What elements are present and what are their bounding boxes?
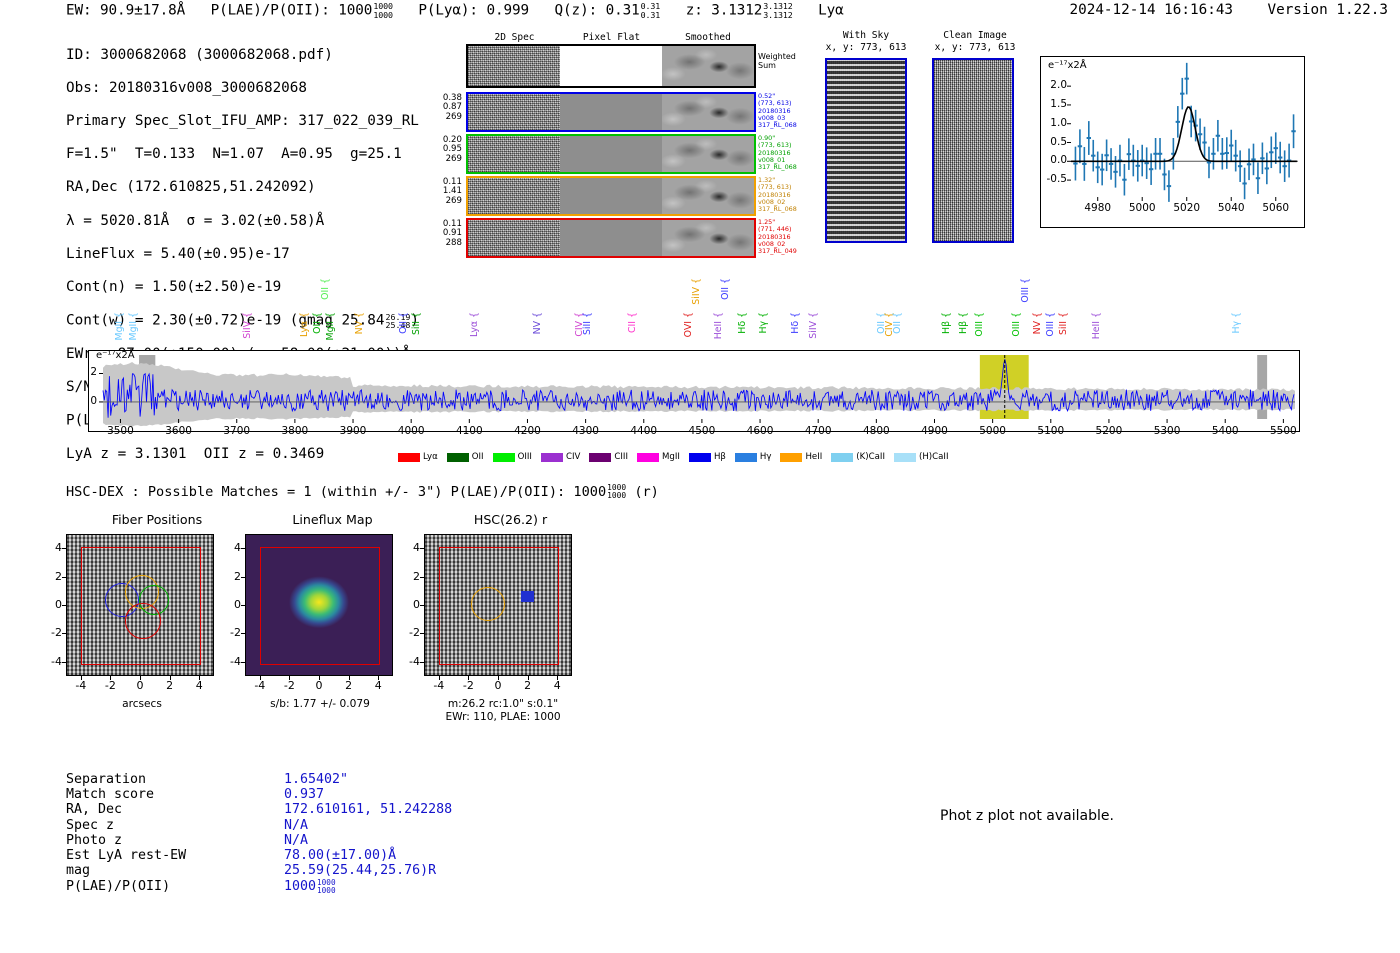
cutout-ytickmark: [241, 605, 245, 606]
report-stamp: 2024-12-14 16:16:43 Version 1.22.3: [1070, 2, 1389, 18]
cutout-ytickmark: [420, 633, 424, 634]
cutout-ytickmark: [62, 633, 66, 634]
fiber-positions-image: [66, 534, 214, 676]
emission-line-label: SiIV {: [242, 312, 253, 339]
zoom-ytick: 2.0: [1029, 79, 1067, 91]
table-row: Separation1.65402": [66, 772, 452, 787]
fiber-left-values-4: 0.110.91288: [432, 220, 462, 248]
cutout-ytickmark: [241, 662, 245, 663]
fiber-circle-red: [125, 603, 161, 639]
z-value: 3.1312: [711, 2, 762, 18]
cutout-ytick: -4: [396, 655, 420, 668]
cutout-ytick: 0: [38, 598, 62, 611]
legend-item: Hγ: [735, 452, 772, 462]
param-line: LineFlux = 5.40(±0.95)e-17: [66, 246, 419, 263]
cutout-xtickmark: [528, 676, 529, 680]
zoom-spectrum-units: e⁻¹⁷x2Å: [1048, 60, 1087, 71]
cutout-ytickmark: [62, 577, 66, 578]
cutout-ytickmark: [420, 577, 424, 578]
param-line: Primary Spec_Slot_IFU_AMP: 317_022_039_R…: [66, 113, 419, 130]
cutout-xtickmark: [349, 676, 350, 680]
legend-item: Lyα: [398, 452, 438, 462]
legend-label: (K)CaII: [856, 452, 885, 462]
cutout-xtickmark: [81, 676, 82, 680]
zoom-ytick: -0.5: [1029, 173, 1067, 185]
line-name: Lyα: [818, 2, 844, 18]
full-xtick: 3600: [153, 425, 205, 437]
emission-line-label: Hδ {: [790, 312, 801, 334]
legend-swatch: [894, 453, 916, 462]
cutout-ytick: 2: [217, 570, 241, 583]
cutout-xtick: 4: [358, 679, 398, 692]
weighted-sum-label: Weighted Sum: [758, 52, 818, 70]
emission-line-label: SiIV {: [808, 312, 819, 339]
hscdex-header: HSC-DEX : Possible Matches = 1 (within +…: [66, 484, 659, 500]
plae-value: 1000: [338, 2, 372, 18]
cutout-ytickmark: [62, 662, 66, 663]
emission-line-label: SiII {: [411, 312, 422, 335]
fiber-right-values-2: 0.90"(773, 613)20180316v008_01317_RL_068: [758, 135, 818, 171]
with-sky-caption: With Sky x, y: 773, 613: [820, 30, 912, 53]
full-xtick: 5500: [1257, 425, 1309, 437]
cutout-xtickmark: [557, 676, 558, 680]
param-line: λ = 5020.81Å σ = 3.02(±0.58)Å: [66, 213, 419, 230]
full-spectrum-units: e⁻¹⁷x2Å: [96, 350, 135, 361]
cutout-xtickmark: [110, 676, 111, 680]
full-xtick: 5100: [1025, 425, 1077, 437]
emission-line-label: OII {: [892, 312, 903, 334]
legend-swatch: [589, 453, 611, 462]
emission-line-label: OII {: [312, 312, 323, 334]
cutout-ytick: 4: [38, 541, 62, 554]
zoom-xtick: 5000: [1120, 202, 1164, 214]
emission-line-label: OVI {: [683, 312, 694, 337]
emission-line-label: NV {: [1032, 312, 1043, 334]
emission-line-label: Hβ {: [958, 312, 969, 334]
cutout-xtickmark: [260, 676, 261, 680]
cutout-caption-hsc-r: m:26.2 rc:1.0" s:0.1" EWr: 110, PLAE: 10…: [418, 698, 588, 723]
match-properties-table: Separation1.65402" Match score0.937 RA, …: [66, 772, 452, 894]
full-xtick: 3700: [211, 425, 263, 437]
legend-label: CIII: [614, 452, 628, 462]
legend-label: Lyα: [423, 452, 438, 462]
zoom-ytick: 0.0: [1029, 154, 1067, 166]
legend-swatch: [780, 453, 802, 462]
emission-line-label: SiII {: [582, 312, 593, 335]
legend-label: MgII: [662, 452, 680, 462]
cutout-xtickmark: [170, 676, 171, 680]
zoom-ytick: 1.5: [1029, 98, 1067, 110]
fiber-left-values-1: 0.380.87269: [432, 94, 462, 122]
emission-line-label: NV {: [354, 312, 365, 334]
cutout-title-lineflux-map: Lineflux Map: [240, 512, 425, 527]
fiber-right-values-4: 1.25"(771, 446)20180316v008_02317_RL_049: [758, 219, 818, 255]
full-xtick: 4100: [443, 425, 495, 437]
cutout-ytickmark: [420, 548, 424, 549]
emission-line-label: Hγ {: [758, 312, 769, 334]
cutout-ytick: 0: [217, 598, 241, 611]
legend-item: Hβ: [689, 452, 726, 462]
plae-label: P(LAE)/P(OII):: [211, 2, 330, 18]
cutout-xtick: 4: [537, 679, 577, 692]
param-line: Cont(n) = 1.50(±2.50)e-19: [66, 279, 419, 296]
emission-line-label: Lyα {: [299, 312, 310, 337]
table-row: Spec zN/A: [66, 818, 452, 833]
cutout-xtickmark: [498, 676, 499, 680]
zoom-xtick: 5040: [1209, 202, 1253, 214]
panel-title-pixelflat: Pixel Flat: [563, 32, 660, 43]
table-row-plae: P(LAE)/P(OII)100010001000: [66, 878, 452, 894]
cutout-ytickmark: [62, 548, 66, 549]
cutout-ytick: -4: [38, 655, 62, 668]
hsc-match-marker: [521, 591, 534, 602]
summary-header: EW: 90.9±17.8Å P(LAE)/P(OII): 1000100010…: [66, 2, 844, 19]
emission-line-label: OIII {: [1020, 278, 1031, 303]
legend-label: OIII: [518, 452, 532, 462]
hsc-aperture-circle: [471, 587, 505, 621]
legend-item: (K)CaII: [831, 452, 885, 462]
clean-image-caption: Clean Image x, y: 773, 613: [925, 30, 1025, 53]
plae-range: 10001000: [373, 2, 393, 19]
emission-line-label: CII {: [627, 312, 638, 333]
emission-line-label: SiIV {: [691, 278, 702, 305]
emission-line-legend: LyαOIIOIIICIVCIIIMgIIHβHγHeII(K)CaII(H)C…: [398, 452, 954, 462]
param-line: ID: 3000682068 (3000682068.pdf): [66, 47, 419, 64]
weighted-sum-strip: [466, 44, 756, 88]
full-spectrum-plot: [88, 350, 1300, 432]
cutout-xtickmark: [468, 676, 469, 680]
photz-note: Phot z plot not available.: [940, 808, 1114, 824]
legend-swatch: [637, 453, 659, 462]
panel-title-2dspec: 2D Spec: [466, 32, 563, 43]
full-xtick: 4800: [850, 425, 902, 437]
full-ytick: 0: [71, 395, 97, 407]
full-ytick: 2: [71, 366, 97, 378]
cutout-ytick: 4: [396, 541, 420, 554]
param-line: RA,Dec (172.610825,51.242092): [66, 179, 419, 196]
cutout-xtickmark: [140, 676, 141, 680]
fiber-right-values-3: 1.32"(773, 613)20180316v008_02317_RL_068: [758, 177, 818, 213]
cutout-xtickmark: [199, 676, 200, 680]
emission-line-label: Hβ {: [941, 312, 952, 334]
version-label: Version 1.22.3: [1267, 2, 1388, 18]
legend-label: CIV: [566, 452, 580, 462]
full-xtick: 3500: [94, 425, 146, 437]
fiber-left-values-3: 0.111.41269: [432, 178, 462, 206]
full-xtick: 4700: [792, 425, 844, 437]
legend-swatch: [831, 453, 853, 462]
fiber-strip-1: [466, 92, 756, 132]
cutout-ytickmark: [420, 662, 424, 663]
lineflux-map-image: [245, 534, 393, 676]
full-xtick: 4900: [908, 425, 960, 437]
full-xtick: 4500: [676, 425, 728, 437]
emission-line-label: MgII {: [325, 312, 336, 341]
qz-label: Q(z):: [555, 2, 598, 18]
zoom-ytick: 0.5: [1029, 136, 1067, 148]
cutout-ytickmark: [241, 633, 245, 634]
z-label: z:: [686, 2, 703, 18]
ew-value: 90.9±17.8Å: [100, 2, 185, 18]
legend-label: (H)CaII: [919, 452, 949, 462]
full-xtick: 4000: [385, 425, 437, 437]
zoom-xtick: 5020: [1165, 202, 1209, 214]
table-row: Est LyA rest-EW78.00(±17.00)Å: [66, 848, 452, 863]
legend-item: (H)CaII: [894, 452, 949, 462]
emission-line-label: NV {: [532, 312, 543, 334]
legend-item: HeII: [780, 452, 822, 462]
legend-label: Hγ: [760, 452, 772, 462]
cutout-caption-fiber-positions: arcsecs: [62, 698, 222, 711]
cutout-caption-lineflux-map: s/b: 1.77 +/- 0.079: [240, 698, 400, 711]
with-sky-image: [825, 58, 907, 243]
emission-line-label: SiII {: [1058, 312, 1069, 335]
emission-line-label: Hγ {: [1231, 312, 1242, 334]
cutout-xtickmark: [319, 676, 320, 680]
emission-line-label: OIII {: [1045, 312, 1056, 337]
qz-value: 0.31: [606, 2, 640, 18]
cutout-ytick: -2: [38, 626, 62, 639]
cutout-ytick: -2: [217, 626, 241, 639]
legend-label: OII: [472, 452, 484, 462]
legend-item: OIII: [493, 452, 532, 462]
cutout-title-hsc-r: HSC(26.2) r: [418, 512, 603, 527]
emission-line-label: Hδ {: [737, 312, 748, 334]
legend-swatch: [541, 453, 563, 462]
cutout-ytick: -4: [217, 655, 241, 668]
param-line-redshifts: LyA z = 3.1301 OII z = 0.3469: [66, 446, 419, 463]
full-xtick: 3800: [269, 425, 321, 437]
emission-line-label: Lyα {: [469, 312, 480, 337]
zoom-xtick: 5060: [1254, 202, 1298, 214]
timestamp: 2024-12-14 16:16:43: [1070, 2, 1234, 18]
legend-label: HeII: [805, 452, 822, 462]
emission-line-label: OII {: [398, 312, 409, 334]
full-xtick: 4400: [618, 425, 670, 437]
cutout-ytick: 2: [396, 570, 420, 583]
cutout-title-fiber-positions: Fiber Positions: [62, 512, 252, 527]
full-xtick: 5000: [967, 425, 1019, 437]
cutout-ytickmark: [62, 605, 66, 606]
param-line: Obs: 20180316v008_3000682068: [66, 80, 419, 97]
cutout-xtick: 4: [179, 679, 219, 692]
plya-value: 0.999: [486, 2, 529, 18]
emission-line-label: MgII {: [114, 312, 125, 341]
full-xtick: 4200: [501, 425, 553, 437]
emission-line-label: OIII {: [974, 312, 985, 337]
table-row: RA, Dec172.610161, 51.242288: [66, 802, 452, 817]
cutout-ytickmark: [420, 605, 424, 606]
zoom-ytick: 1.0: [1029, 117, 1067, 129]
emission-line-label: MgII {: [128, 312, 139, 341]
emission-line-label: HeII {: [713, 312, 724, 339]
hsc-r-image: [424, 534, 572, 676]
cutout-ytick: 0: [396, 598, 420, 611]
param-line: F=1.5" T=0.133 N=1.07 A=0.95 g=25.1: [66, 146, 419, 163]
cutout-ytick: -2: [396, 626, 420, 639]
cutout-xtickmark: [289, 676, 290, 680]
panel-title-smoothed: Smoothed: [660, 32, 756, 43]
emission-line-label: OIII {: [1011, 312, 1022, 337]
full-xtick: 4300: [560, 425, 612, 437]
emission-line-label: OII {: [720, 278, 731, 300]
legend-item: CIII: [589, 452, 628, 462]
emission-line-label: HeII {: [1091, 312, 1102, 339]
ew-label: EW:: [66, 2, 92, 18]
full-xtick: 5300: [1141, 425, 1193, 437]
fiber-left-values-2: 0.200.95269: [432, 136, 462, 164]
fiber-right-values-1: 0.52"(773, 613)20180316v008_03317_RL_068: [758, 93, 818, 129]
cutout-ytick: 4: [217, 541, 241, 554]
zoom-xtick: 4980: [1076, 202, 1120, 214]
spec2d-panel-group: 2D Spec Pixel Flat Smoothed Weighted Sum…: [432, 32, 762, 254]
legend-item: OII: [447, 452, 484, 462]
table-row: mag25.59(25.44,25.76)R: [66, 863, 452, 878]
lineflux-map-box: [260, 547, 380, 665]
clean-image: [932, 58, 1014, 243]
qz-range: 0.310.31: [641, 2, 661, 19]
legend-label: Hβ: [714, 452, 726, 462]
legend-swatch: [398, 453, 420, 462]
full-xtick: 4600: [734, 425, 786, 437]
z-range: 3.13123.1312: [763, 2, 792, 19]
cutout-ytick: 2: [38, 570, 62, 583]
table-row: Match score0.937: [66, 787, 452, 802]
table-row: Photo zN/A: [66, 833, 452, 848]
legend-item: CIV: [541, 452, 580, 462]
legend-swatch: [735, 453, 757, 462]
full-xtick: 5200: [1083, 425, 1135, 437]
legend-swatch: [447, 453, 469, 462]
legend-swatch: [689, 453, 711, 462]
emission-line-label: OII {: [320, 278, 331, 300]
cutout-ytickmark: [241, 577, 245, 578]
cutout-ytickmark: [241, 548, 245, 549]
cutout-xtickmark: [439, 676, 440, 680]
cutout-xtickmark: [378, 676, 379, 680]
legend-item: MgII: [637, 452, 680, 462]
legend-swatch: [493, 453, 515, 462]
fiber-strip-4: [466, 218, 756, 258]
fiber-strip-3: [466, 176, 756, 216]
full-xtick: 3900: [327, 425, 379, 437]
full-xtick: 5400: [1199, 425, 1251, 437]
plya-label: P(Lyα):: [418, 2, 478, 18]
fiber-strip-2: [466, 134, 756, 174]
